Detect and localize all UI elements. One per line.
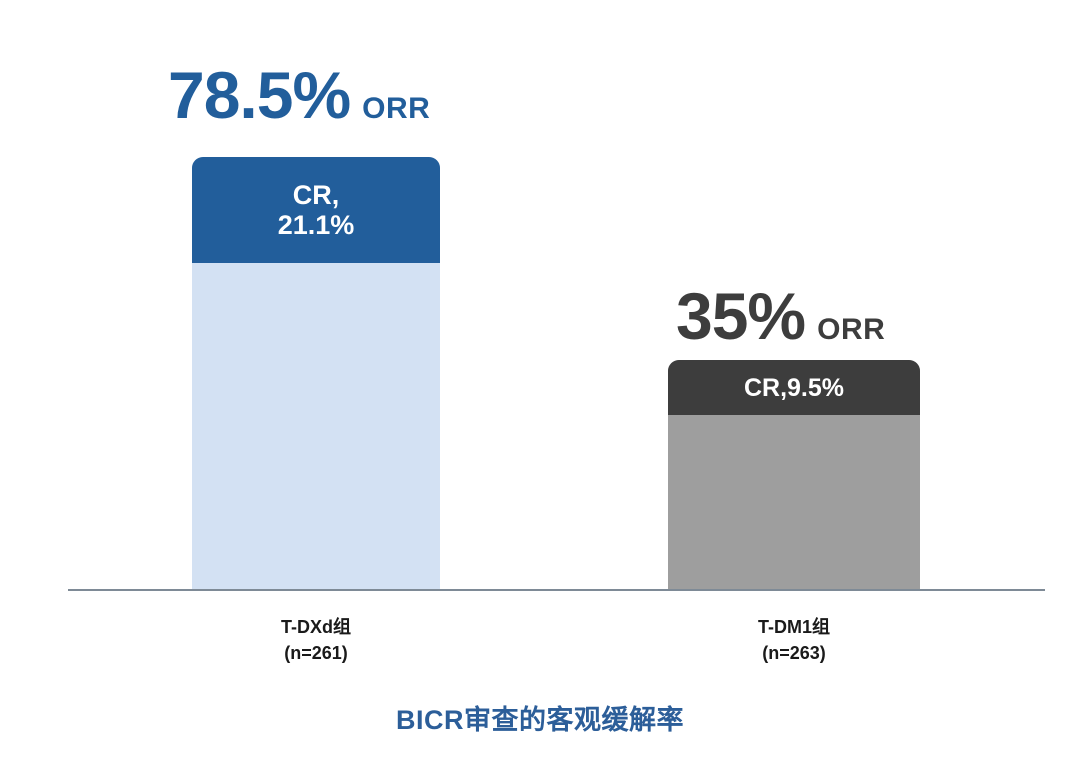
category-label-t-dm1: T-DM1组 (n=263) <box>674 614 914 666</box>
x-axis-line <box>68 589 1045 591</box>
orr-callout-t-dm1: 35%ORR <box>676 283 885 349</box>
category-label-t-dxd-count: (n=261) <box>284 643 348 663</box>
category-label-t-dxd-name: T-DXd组 <box>281 617 351 637</box>
orr-callout-t-dxd: 78.5%ORR <box>168 62 430 128</box>
bar-t-dm1-cr-label: CR,9.5% <box>744 374 844 402</box>
bar-t-dxd-cr-label-line1: CR, <box>293 180 340 210</box>
orr-bar-chart: 78.5%ORR CR, 21.1% 35%ORR CR,9.5% T-DXd组… <box>0 0 1080 771</box>
orr-word-t-dm1: ORR <box>805 313 885 346</box>
bar-t-dxd-cr-segment: CR, 21.1% <box>192 157 440 263</box>
orr-value-t-dxd: 78.5% <box>168 58 350 132</box>
bar-t-dm1-cr-segment: CR,9.5% <box>668 360 920 415</box>
category-label-t-dm1-name: T-DM1组 <box>758 617 830 637</box>
bar-t-dxd-cr-label-line2: 21.1% <box>278 210 355 240</box>
bar-t-dxd-total: CR, 21.1% <box>192 157 440 590</box>
orr-value-t-dm1: 35% <box>676 279 805 353</box>
bar-t-dm1-total: CR,9.5% <box>668 360 920 590</box>
category-label-t-dxd: T-DXd组 (n=261) <box>196 614 436 666</box>
category-label-t-dm1-count: (n=263) <box>762 643 826 663</box>
orr-word-t-dxd: ORR <box>350 92 430 125</box>
bar-t-dxd-cr-label: CR, 21.1% <box>278 180 355 240</box>
chart-title: BICR审查的客观缓解率 <box>0 698 1080 737</box>
